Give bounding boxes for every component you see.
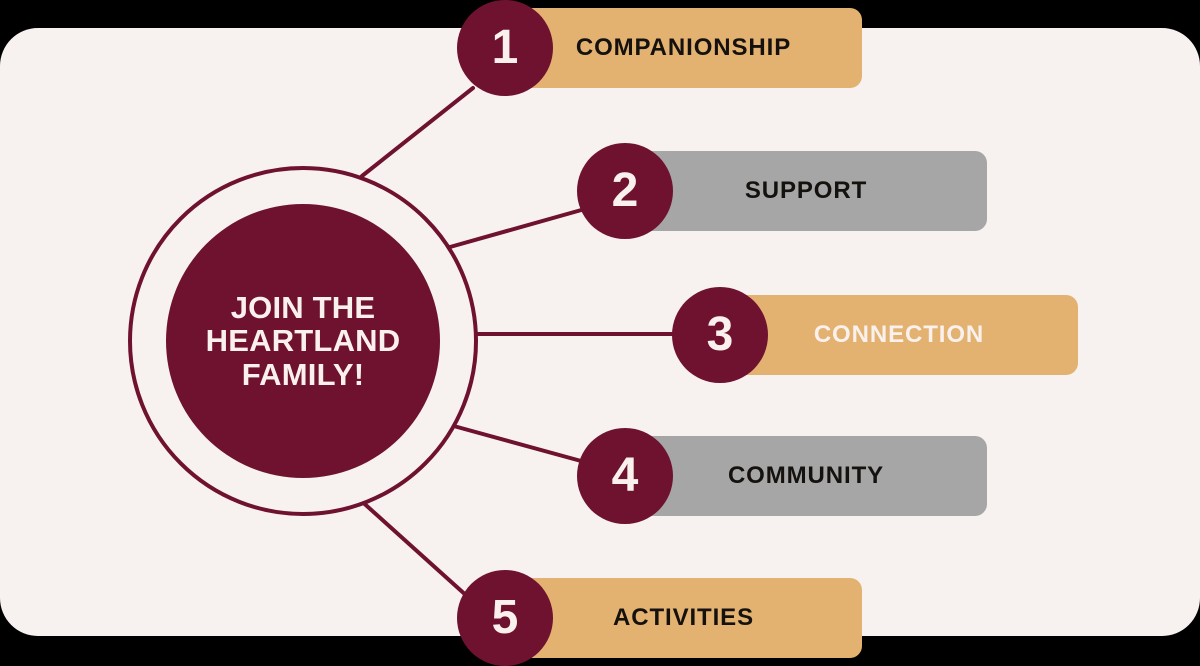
item-badge-4[interactable]: 4: [577, 428, 673, 524]
item-bar-1[interactable]: COMPANIONSHIP: [505, 8, 862, 88]
item-bar-2[interactable]: SUPPORT: [625, 151, 987, 231]
item-row-5[interactable]: ACTIVITIES 5: [457, 570, 862, 666]
item-row-3[interactable]: CONNECTION 3: [672, 287, 1078, 383]
item-badge-3[interactable]: 3: [672, 287, 768, 383]
item-label-1: COMPANIONSHIP: [576, 34, 791, 62]
infographic-canvas: JOIN THE HEARTLAND FAMILY! COMPANIONSHIP…: [0, 0, 1200, 666]
item-bar-4[interactable]: COMMUNITY: [625, 436, 987, 516]
item-row-4[interactable]: COMMUNITY 4: [577, 428, 987, 524]
center-hub: JOIN THE HEARTLAND FAMILY!: [128, 166, 478, 516]
item-number-1: 1: [492, 24, 519, 72]
hub-inner-circle: JOIN THE HEARTLAND FAMILY!: [166, 204, 440, 478]
item-label-3: CONNECTION: [814, 321, 984, 349]
item-row-1[interactable]: COMPANIONSHIP 1: [457, 0, 862, 96]
item-label-4: COMMUNITY: [728, 462, 884, 490]
item-bar-5[interactable]: ACTIVITIES: [505, 578, 862, 658]
item-badge-2[interactable]: 2: [577, 143, 673, 239]
item-bar-3[interactable]: CONNECTION: [720, 295, 1078, 375]
item-number-5: 5: [492, 594, 519, 642]
item-label-5: ACTIVITIES: [613, 604, 754, 632]
item-number-2: 2: [612, 167, 639, 215]
hub-title: JOIN THE HEARTLAND FAMILY!: [166, 204, 440, 478]
item-number-4: 4: [612, 452, 639, 500]
item-badge-1[interactable]: 1: [457, 0, 553, 96]
item-label-2: SUPPORT: [745, 177, 867, 205]
item-number-3: 3: [707, 311, 734, 359]
item-badge-5[interactable]: 5: [457, 570, 553, 666]
item-row-2[interactable]: SUPPORT 2: [577, 143, 987, 239]
